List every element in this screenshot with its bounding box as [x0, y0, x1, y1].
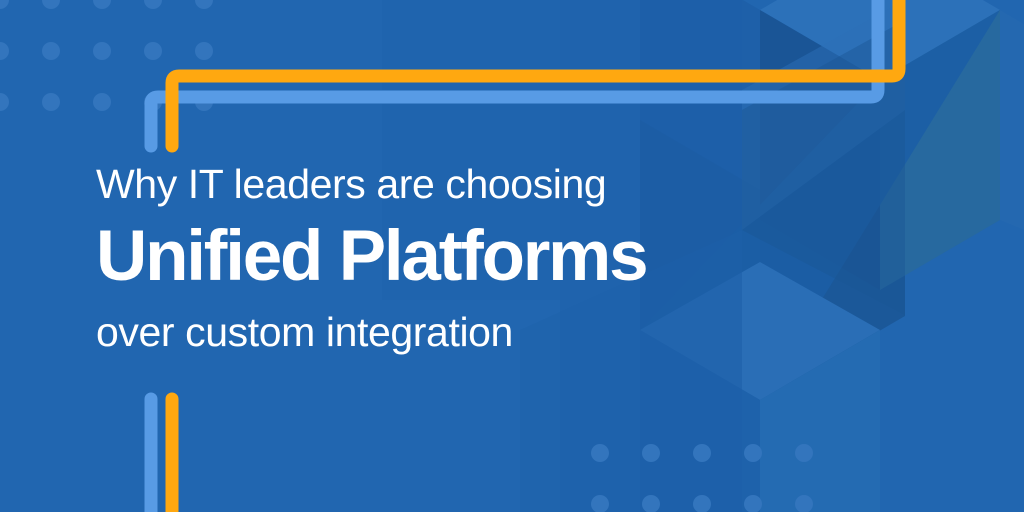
cube-main-right — [880, 10, 1000, 290]
bottom-connector-lines — [0, 380, 1024, 512]
dot — [144, 93, 162, 111]
dot — [144, 0, 162, 9]
dot-grid-top-left — [0, 0, 214, 112]
headline-text-block: Why IT leaders are choosing Unified Plat… — [96, 158, 896, 358]
dot — [693, 495, 711, 512]
orange-top-connector — [172, 0, 899, 146]
dot — [0, 93, 9, 111]
banner-canvas: Why IT leaders are choosing Unified Plat… — [0, 0, 1024, 512]
dot — [144, 42, 162, 60]
dot — [591, 444, 609, 462]
dot — [0, 0, 9, 9]
dot — [795, 495, 813, 512]
top-connector-lines — [0, 0, 1024, 160]
cube-main-top — [760, 0, 1000, 80]
dot — [42, 42, 60, 60]
dot — [195, 0, 213, 9]
blue-top-connector — [151, 0, 878, 146]
dot — [0, 42, 9, 60]
dot — [642, 495, 660, 512]
dot — [195, 42, 213, 60]
dot — [795, 444, 813, 462]
dot-grid-bottom-right — [591, 444, 814, 512]
dot — [93, 0, 111, 9]
eyebrow-line: Why IT leaders are choosing — [96, 158, 896, 210]
dot — [42, 0, 60, 9]
dot — [744, 495, 762, 512]
cube-right-wedge — [1000, 10, 1024, 230]
dot — [93, 42, 111, 60]
dot — [744, 444, 762, 462]
dot — [693, 444, 711, 462]
page-title: Unified Platforms — [96, 214, 896, 300]
subline: over custom integration — [96, 306, 896, 358]
dot — [642, 444, 660, 462]
dot — [591, 495, 609, 512]
dot — [93, 93, 111, 111]
dot — [195, 93, 213, 111]
dot — [42, 93, 60, 111]
